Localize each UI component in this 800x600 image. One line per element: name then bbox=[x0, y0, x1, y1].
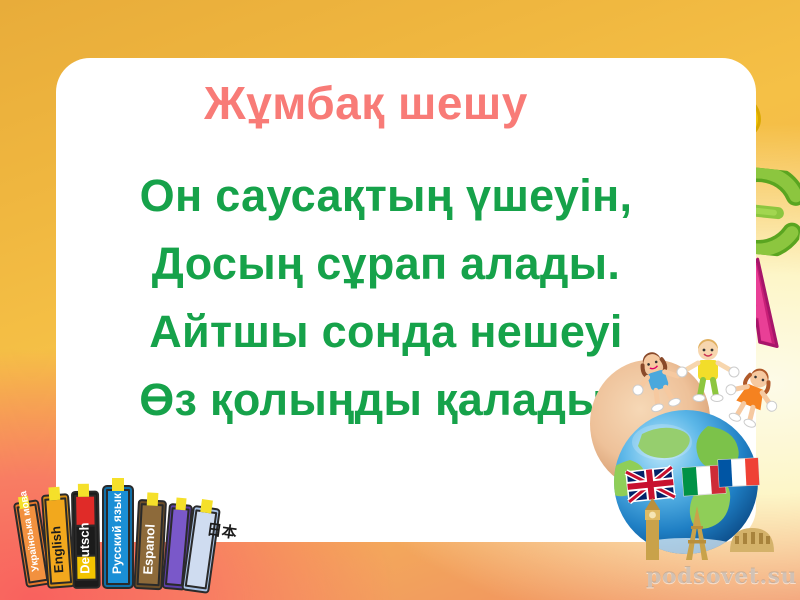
riddle-line: Досың сұрап алады. bbox=[56, 230, 716, 298]
flag-united-kingdom bbox=[626, 467, 675, 502]
book-item: English bbox=[41, 486, 74, 588]
kid-girl-blue bbox=[623, 347, 686, 417]
book-item: Espanol bbox=[134, 492, 166, 589]
book-label: Deutsch bbox=[77, 522, 93, 574]
language-books-illustration: Українська мова English Deutsch bbox=[8, 478, 240, 596]
watermark: podsovet.su bbox=[646, 563, 797, 589]
page-title: Жұмбақ шешу bbox=[56, 76, 676, 130]
landmark-big-ben bbox=[645, 498, 660, 560]
earth-globe bbox=[606, 410, 775, 560]
book-label: Espanol bbox=[140, 524, 158, 575]
riddle-line: Он саусақтың үшеуін, bbox=[56, 162, 716, 230]
book-item: Русский язык bbox=[103, 478, 133, 588]
books-svg: Українська мова English Deutsch bbox=[8, 478, 240, 596]
flag-france bbox=[718, 458, 759, 487]
globe-svg bbox=[590, 330, 800, 560]
book-label: Русский язык bbox=[110, 492, 124, 574]
book-item: Deutsch bbox=[72, 484, 100, 588]
globe-illustration bbox=[590, 330, 800, 560]
